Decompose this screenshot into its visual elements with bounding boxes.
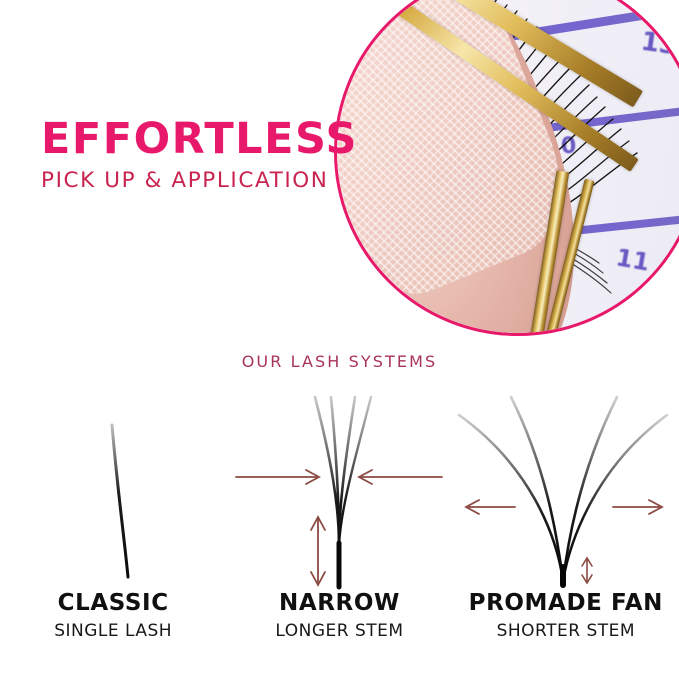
headline-main: EFFORTLESS — [41, 118, 358, 161]
arrow-left-outward — [466, 500, 515, 514]
promade-fan-icon — [453, 385, 679, 590]
narrow-labels: NARROW LONGER STEM — [226, 590, 452, 641]
arrow-vertical-long-stem — [311, 517, 325, 585]
poster-canvas: 13 0 0 11 — [0, 0, 679, 679]
classic-labels: CLASSIC SINGLE LASH — [0, 590, 226, 641]
system-name: NARROW — [226, 590, 452, 616]
headline-sub: PICK UP & APPLICATION — [41, 170, 358, 192]
product-photo: 13 0 0 11 — [337, 0, 679, 333]
system-promade-fan: PROMADE FAN SHORTER STEM — [453, 385, 679, 640]
narrow-diagram — [226, 385, 452, 590]
system-narrow: NARROW LONGER STEM — [226, 385, 452, 640]
system-desc: SINGLE LASH — [0, 621, 226, 641]
headline-block: EFFORTLESS PICK UP & APPLICATION — [41, 118, 358, 192]
section-title: OUR LASH SYSTEMS — [0, 352, 679, 371]
arrow-vertical-short-stem — [582, 558, 592, 583]
promade-fan-labels: PROMADE FAN SHORTER STEM — [453, 590, 679, 641]
promade-fan-diagram — [453, 385, 679, 590]
lash-systems-row: CLASSIC SINGLE LASH — [0, 385, 679, 640]
system-name: PROMADE FAN — [453, 590, 679, 616]
single-lash-icon — [0, 385, 226, 590]
narrow-fan-icon — [226, 385, 452, 590]
arrow-left-inward — [236, 470, 319, 484]
classic-diagram — [0, 385, 226, 590]
arrow-right-outward — [613, 500, 662, 514]
arrow-right-inward — [359, 470, 442, 484]
system-desc: SHORTER STEM — [453, 621, 679, 641]
system-name: CLASSIC — [0, 590, 226, 616]
system-classic: CLASSIC SINGLE LASH — [0, 385, 226, 640]
system-desc: LONGER STEM — [226, 621, 452, 641]
product-photo-circle: 13 0 0 11 — [334, 0, 679, 336]
